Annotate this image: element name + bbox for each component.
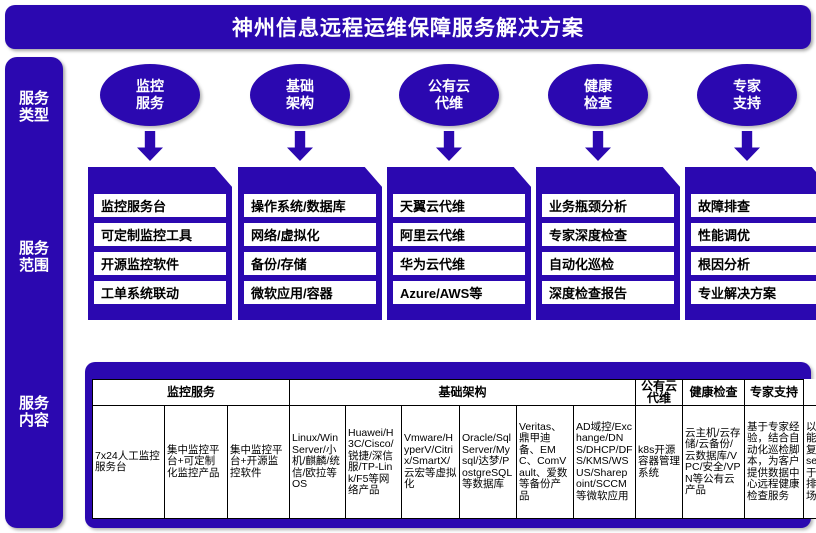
content-cell: 7x24人工监控服务台	[93, 406, 165, 519]
scope-item[interactable]: 故障排查	[690, 193, 816, 218]
content-cell: 云主机/云存储/云备份/云数据库/VPC/安全/VPN等公有云产品	[683, 406, 745, 519]
service-content-table: 监控服务 基础架构 公有云代维 健康检查 专家支持 7x24人工监控服务台 集中…	[92, 379, 816, 519]
scope-item[interactable]: 网络/虚拟化	[243, 222, 377, 247]
scope-item[interactable]: 阿里云代维	[392, 222, 526, 247]
scope-item[interactable]: 微软应用/容器	[243, 280, 377, 305]
scope-item[interactable]: 自动化巡检	[541, 251, 675, 276]
left-rail: 服务 类型 服务 范围 服务 内容	[5, 57, 63, 528]
scope-card-expert-support: 故障排查 性能调优 根因分析 专业解决方案	[685, 167, 816, 320]
rail-label-service-content-line1: 服务	[19, 395, 49, 412]
category-line1: 专家	[733, 78, 761, 94]
scope-item[interactable]: Azure/AWS等	[392, 280, 526, 305]
content-cell: Oracle/SqlServer/Mysql/达梦/PostgreSQL等数据库	[460, 406, 517, 519]
arrow-down-icon-expert-support	[734, 131, 760, 161]
group-header-expert-support: 专家支持	[745, 380, 804, 406]
category-node-public-cloud-ops-label: 公有云 代维	[428, 78, 470, 112]
content-cell: 集中监控平台+可定制化监控产品	[165, 406, 228, 519]
category-node-health-check[interactable]: 健康 检查	[548, 64, 648, 126]
scope-item[interactable]: 监控服务台	[93, 193, 227, 218]
scope-item[interactable]: 操作系统/数据库	[243, 193, 377, 218]
scope-item[interactable]: 专业解决方案	[690, 280, 816, 305]
scope-item[interactable]: 专家深度检查	[541, 222, 675, 247]
scope-item[interactable]: 工单系统联动	[93, 280, 227, 305]
category-node-infrastructure[interactable]: 基础 架构	[250, 64, 350, 126]
page-title: 神州信息远程运维保障服务解决方案	[232, 12, 584, 42]
scope-item[interactable]: 天翼云代维	[392, 193, 526, 218]
rail-label-service-scope: 服务 范围	[5, 240, 63, 274]
scope-card-infrastructure: 操作系统/数据库 网络/虚拟化 备份/存储 微软应用/容器	[238, 167, 382, 320]
group-header-infrastructure: 基础架构	[290, 380, 636, 406]
scope-card-health-check-items: 业务瓶颈分析 专家深度检查 自动化巡检 深度检查报告	[541, 193, 675, 305]
group-header-monitor-service: 监控服务	[93, 380, 290, 406]
category-line2: 代维	[435, 95, 463, 111]
scope-item[interactable]: 开源监控软件	[93, 251, 227, 276]
category-node-monitor-service-label: 监控 服务	[136, 78, 164, 112]
rail-label-service-type-line2: 类型	[19, 107, 49, 124]
content-cell: Huawei/H3C/Cisco/锐捷/深信服/TP-Link/F5等网络产品	[346, 406, 402, 519]
scope-item[interactable]: 业务瓶颈分析	[541, 193, 675, 218]
arrow-down-icon-infrastructure	[287, 131, 313, 161]
scope-card-monitor-service-items: 监控服务台 可定制监控工具 开源监控软件 工单系统联动	[93, 193, 227, 305]
content-cell: 以专家的能力支持复杂的Case，不限于调优、排障、现场支持	[804, 406, 816, 519]
category-line1: 监控	[136, 78, 164, 94]
diagram-canvas: 神州信息远程运维保障服务解决方案 服务 类型 服务 范围 服务 内容 监控 服务…	[0, 0, 816, 533]
table-group-header-row: 监控服务 基础架构 公有云代维 健康检查 专家支持	[93, 380, 816, 406]
table-row: 7x24人工监控服务台 集中监控平台+可定制化监控产品 集中监控平台+开源监控软…	[93, 406, 816, 519]
rail-label-service-content: 服务 内容	[5, 395, 63, 429]
rail-label-service-scope-line1: 服务	[19, 240, 49, 257]
arrow-down-icon-public-cloud-ops	[436, 131, 462, 161]
arrow-down-icon-monitor-service	[137, 131, 163, 161]
content-cell: 基于专家经验，结合自动化巡检脚本，为客户提供数据中心远程健康检查服务	[745, 406, 804, 519]
content-cell: 集中监控平台+开源监控软件	[228, 406, 290, 519]
content-cell: Linux/Win Server/小机/麒麟/统信/欧拉等OS	[290, 406, 346, 519]
category-line2: 支持	[733, 95, 761, 111]
category-node-monitor-service[interactable]: 监控 服务	[100, 64, 200, 126]
rail-label-service-type-line1: 服务	[19, 90, 49, 107]
scope-item[interactable]: 可定制监控工具	[93, 222, 227, 247]
rail-label-service-scope-line2: 范围	[19, 257, 49, 274]
category-node-expert-support-label: 专家 支持	[733, 78, 761, 112]
content-cell: k8s开源容器管理系统	[636, 406, 683, 519]
scope-item[interactable]: 深度检查报告	[541, 280, 675, 305]
scope-item[interactable]: 备份/存储	[243, 251, 377, 276]
category-line1: 基础	[286, 78, 314, 94]
group-header-public-cloud-ops: 公有云代维	[636, 380, 683, 406]
category-node-infrastructure-label: 基础 架构	[286, 78, 314, 112]
scope-item[interactable]: 根因分析	[690, 251, 816, 276]
category-node-expert-support[interactable]: 专家 支持	[697, 64, 797, 126]
rail-label-service-content-line2: 内容	[19, 412, 49, 429]
content-cell: AD域控/Exchange/DNS/DHCP/DFS/KMS/WSUS/Shar…	[574, 406, 636, 519]
scope-card-expert-support-items: 故障排查 性能调优 根因分析 专业解决方案	[690, 193, 816, 305]
arrow-down-icon-health-check	[585, 131, 611, 161]
category-line1: 健康	[584, 78, 612, 94]
content-cell: Vmware/HyperV/Citrix/SmartX/云宏等虚拟化	[402, 406, 460, 519]
scope-card-public-cloud-ops: 天翼云代维 阿里云代维 华为云代维 Azure/AWS等	[387, 167, 531, 320]
category-node-public-cloud-ops[interactable]: 公有云 代维	[399, 64, 499, 126]
content-cell: Veritas、鼎甲迪备、EMC、ComVault、爱数等备份产品	[517, 406, 574, 519]
category-node-health-check-label: 健康 检查	[584, 78, 612, 112]
scope-card-public-cloud-ops-items: 天翼云代维 阿里云代维 华为云代维 Azure/AWS等	[392, 193, 526, 305]
rail-label-service-type: 服务 类型	[5, 90, 63, 124]
service-content-panel: 监控服务 基础架构 公有云代维 健康检查 专家支持 7x24人工监控服务台 集中…	[85, 362, 811, 528]
category-line1: 公有云	[428, 78, 470, 94]
scope-card-infrastructure-items: 操作系统/数据库 网络/虚拟化 备份/存储 微软应用/容器	[243, 193, 377, 305]
scope-card-monitor-service: 监控服务台 可定制监控工具 开源监控软件 工单系统联动	[88, 167, 232, 320]
group-header-health-check: 健康检查	[683, 380, 745, 406]
page-title-banner: 神州信息远程运维保障服务解决方案	[5, 5, 811, 49]
scope-item[interactable]: 华为云代维	[392, 251, 526, 276]
scope-card-health-check: 业务瓶颈分析 专家深度检查 自动化巡检 深度检查报告	[536, 167, 680, 320]
category-line2: 检查	[584, 95, 612, 111]
category-line2: 服务	[136, 95, 164, 111]
category-line2: 架构	[286, 95, 314, 111]
scope-item[interactable]: 性能调优	[690, 222, 816, 247]
